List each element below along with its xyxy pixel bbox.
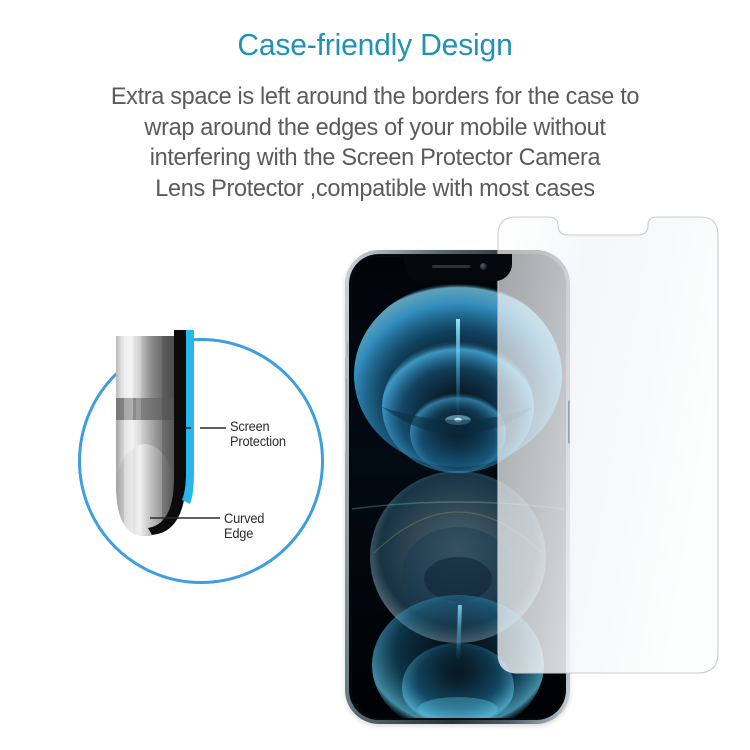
- description-line-1: Extra space is left around the borders f…: [38, 82, 712, 113]
- label-curved-edge: Curved Edge: [224, 512, 264, 541]
- product-image-canvas: Case-friendly Design Extra space is left…: [0, 0, 750, 750]
- page-title: Case-friendly Design: [11, 26, 739, 64]
- label-screen-protection-line-1: Screen: [230, 420, 286, 435]
- callout-circle-outline: [80, 340, 323, 583]
- description-text: Extra space is left around the borders f…: [38, 82, 712, 204]
- mute-switch-button[interactable]: [345, 342, 348, 358]
- power-button[interactable]: [568, 400, 570, 444]
- speaker-grille-icon: [432, 265, 470, 269]
- front-camera-icon: [480, 263, 487, 270]
- volume-up-button[interactable]: [345, 378, 347, 409]
- phone-edge-cross-section: [115, 330, 175, 544]
- label-curved-edge-line-1: Curved: [224, 512, 264, 527]
- description-line-4: Lens Protector ,compatible with most cas…: [38, 174, 712, 205]
- callout-diagram-svg: [78, 336, 324, 586]
- volume-down-button[interactable]: [345, 420, 347, 451]
- label-curved-edge-line-2: Edge: [224, 527, 264, 542]
- label-screen-protection: Screen Protection: [230, 420, 286, 449]
- phone-notch: [404, 254, 512, 281]
- label-screen-protection-line-2: Protection: [230, 435, 286, 450]
- description-line-2: wrap around the edges of your mobile wit…: [38, 113, 712, 144]
- protector-outline-svg: [488, 205, 728, 691]
- edge-cross-section-callout: Screen Protection Curved Edge: [78, 336, 324, 586]
- protector-shape: [498, 217, 718, 673]
- description-line-3: interfering with the Screen Protector Ca…: [38, 143, 712, 174]
- screen-protector-sheet: [488, 205, 728, 691]
